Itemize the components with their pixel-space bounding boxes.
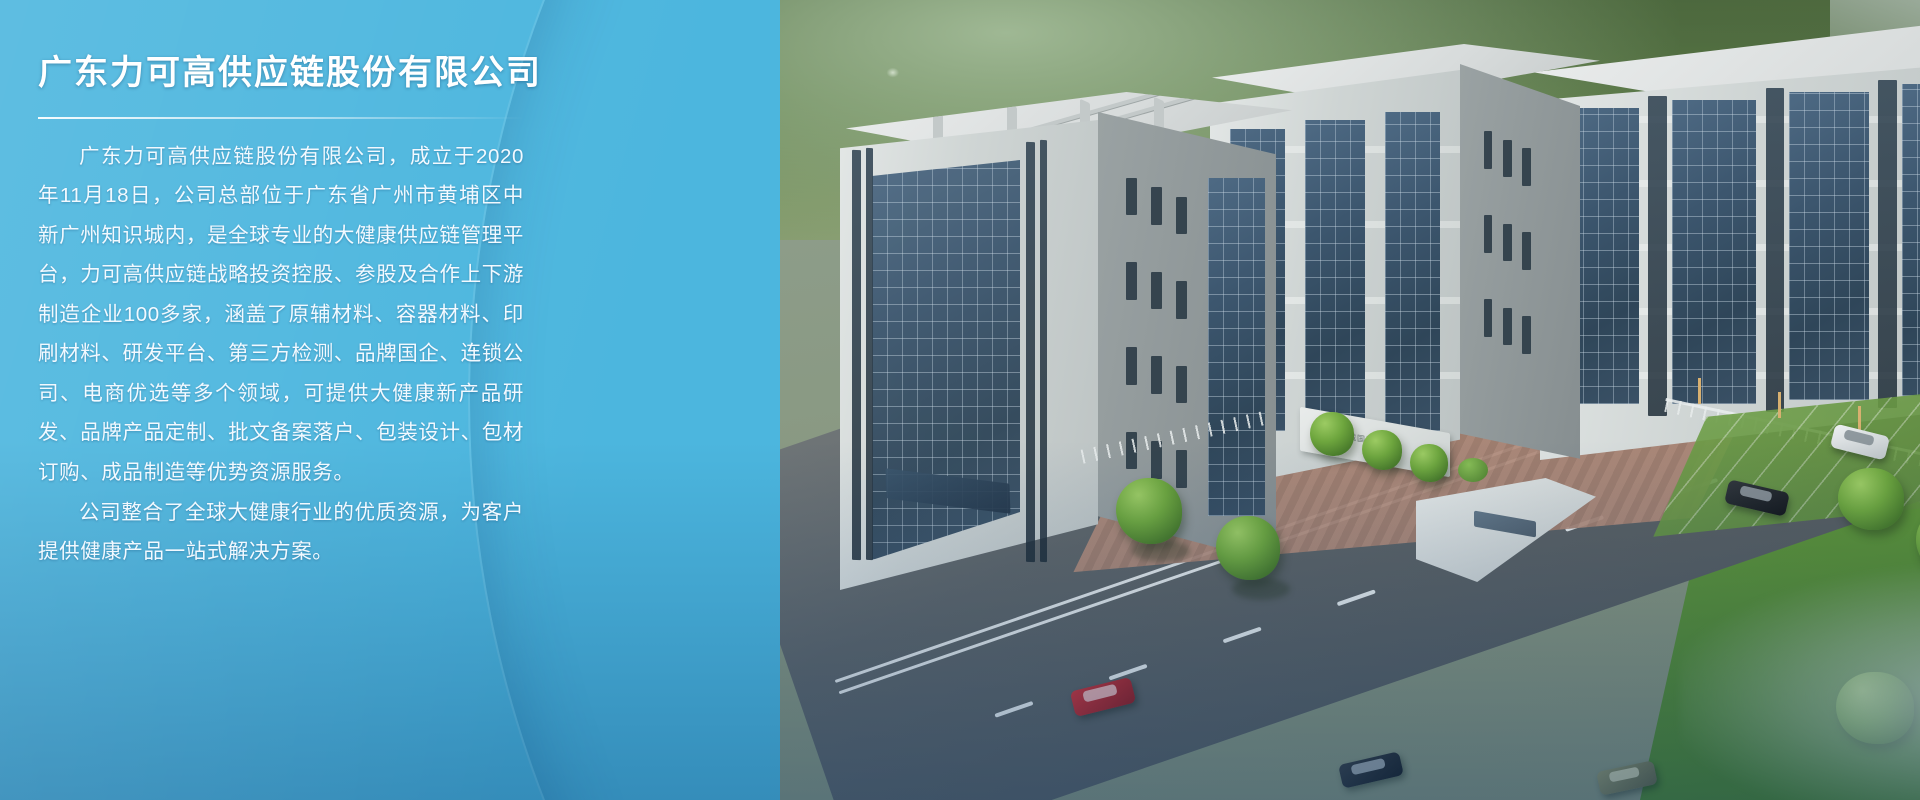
company-profile-banner: 中新知识城国际产业园 xyxy=(0,0,1920,800)
company-description: 广东力可高供应链股份有限公司，成立于2020年11月18日，公司总部位于广东省广… xyxy=(38,137,524,572)
description-paragraph-1: 广东力可高供应链股份有限公司，成立于2020年11月18日，公司总部位于广东省广… xyxy=(38,137,524,493)
page-title: 广东力可高供应链股份有限公司 xyxy=(38,52,524,95)
description-paragraph-2: 公司整合了全球大健康行业的优质资源，为客户提供健康产品一站式解决方案。 xyxy=(38,493,524,572)
text-column: 广东力可高供应链股份有限公司 广东力可高供应链股份有限公司，成立于2020年11… xyxy=(0,0,560,800)
title-divider xyxy=(38,117,524,119)
